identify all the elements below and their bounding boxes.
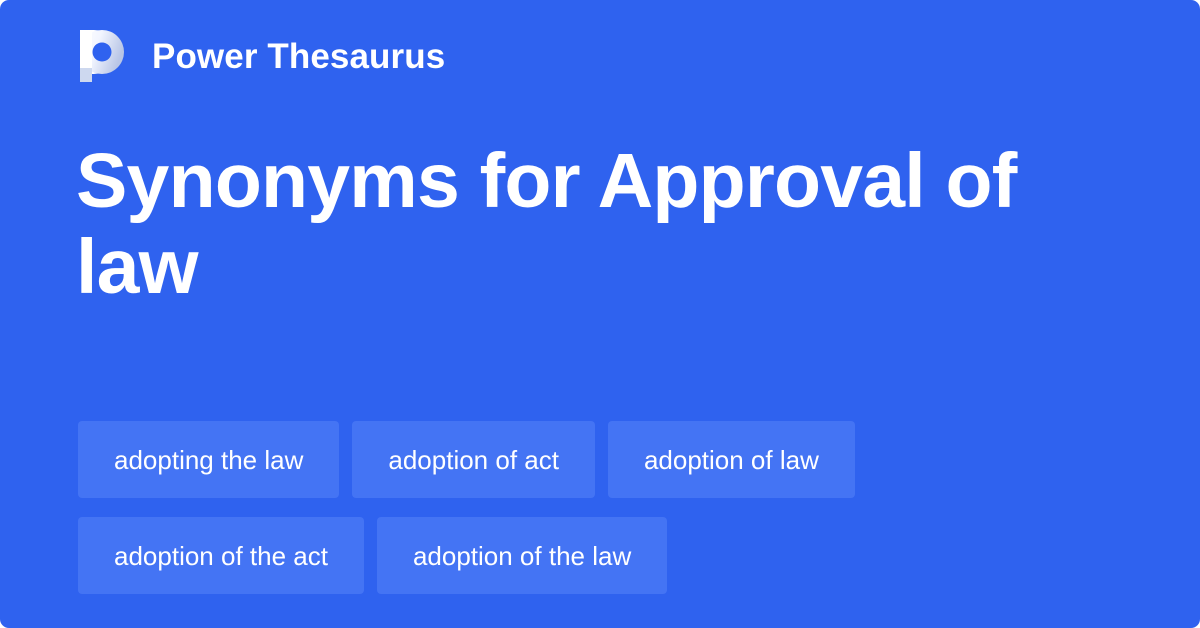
synonym-chip[interactable]: adoption of act: [352, 421, 595, 498]
synonym-chip[interactable]: adoption of the act: [78, 517, 364, 594]
synonym-chip[interactable]: adopting the law: [78, 421, 339, 498]
page-title: Synonyms for Approval of law: [76, 138, 1116, 310]
brand-name: Power Thesaurus: [152, 39, 445, 74]
power-thesaurus-logo-icon: [78, 28, 130, 84]
brand-header[interactable]: Power Thesaurus: [78, 28, 445, 84]
synonym-chip[interactable]: adoption of the law: [377, 517, 667, 594]
synonym-list: adopting the law adoption of act adoptio…: [78, 421, 1122, 594]
synonym-chip[interactable]: adoption of law: [608, 421, 855, 498]
share-card: Power Thesaurus Synonyms for Approval of…: [0, 0, 1200, 628]
